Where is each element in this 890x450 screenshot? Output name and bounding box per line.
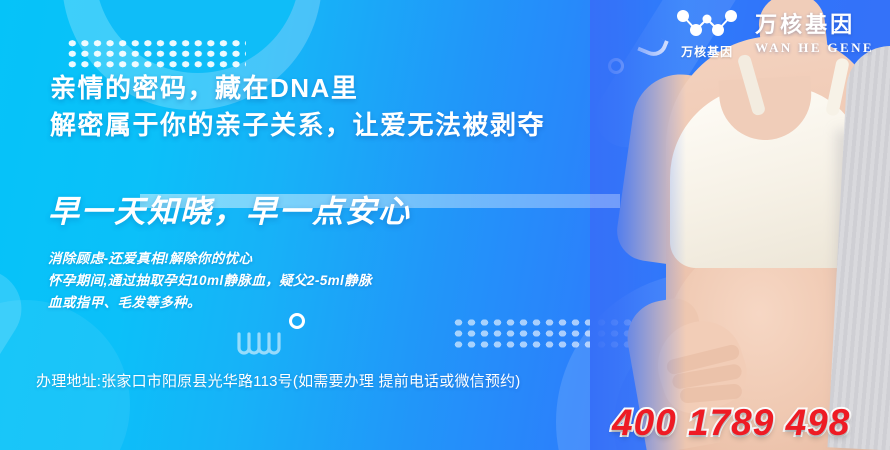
logo-mark: 万核基因 xyxy=(671,8,743,60)
address-text: 办理地址:张家口市阳原县光华路113号(如需要办理 提前电话或微信预约) xyxy=(36,370,520,391)
wave-squiggle-icon xyxy=(236,330,288,358)
brand-logo[interactable]: 万核基因 万核基因 WAN HE GENE xyxy=(671,8,874,60)
body-copy-line-3: 血或指甲、毛发等多种。 xyxy=(48,292,372,314)
slogan-block: 早一天知晓，早一点安心 xyxy=(48,186,411,231)
headline: 亲情的密码，藏在DNA里 解密属于你的亲子关系，让爱无法被剥夺 xyxy=(50,70,545,144)
ring-circle-icon xyxy=(289,313,305,329)
pregnant-woman-photo xyxy=(590,0,890,450)
body-copy: 消除顾虑-还爱真相!解除你的忧心 怀孕期间,通过抽取孕妇10ml静脉血，疑父2-… xyxy=(48,248,372,314)
headline-line-1: 亲情的密码，藏在DNA里 xyxy=(50,70,545,107)
logo-wordmark: 万核基因 WAN HE GENE xyxy=(755,14,874,54)
logo-mark-label: 万核基因 xyxy=(681,43,733,60)
promotional-banner: 万核基因 万核基因 WAN HE GENE 亲情的密码，藏在DNA里 解密属于你… xyxy=(0,0,890,450)
logo-name-en: WAN HE GENE xyxy=(755,41,874,54)
slogan-text: 早一天知晓，早一点安心 xyxy=(48,186,411,231)
dot-grid-icon xyxy=(66,38,246,68)
headline-line-2: 解密属于你的亲子关系，让爱无法被剥夺 xyxy=(50,107,545,144)
body-copy-line-1: 消除顾虑-还爱真相!解除你的忧心 xyxy=(48,248,372,270)
photo-edge-fade xyxy=(590,0,686,450)
body-copy-line-2: 怀孕期间,通过抽取孕妇10ml静脉血，疑父2-5ml静脉 xyxy=(48,270,372,292)
logo-name-cn: 万核基因 xyxy=(755,14,874,36)
dna-molecule-icon xyxy=(674,8,740,42)
phone-number[interactable]: 400 1789 498 xyxy=(612,402,850,444)
